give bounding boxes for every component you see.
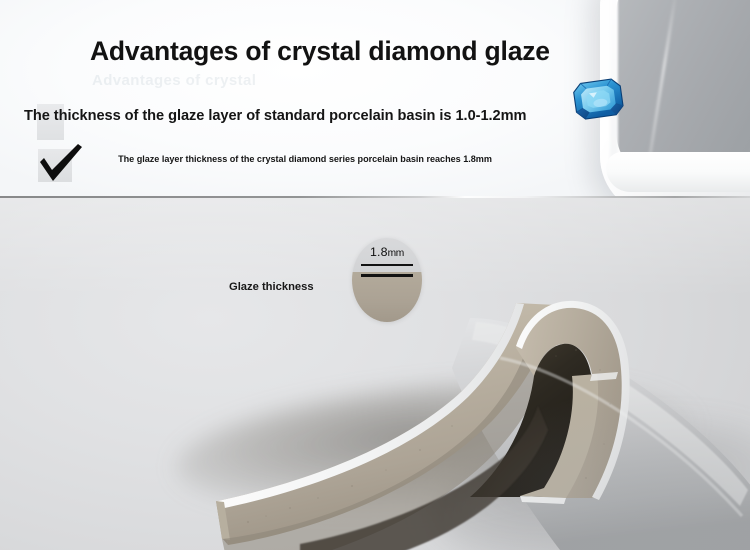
- magnifier-value-label: 1.8mm: [355, 245, 419, 259]
- magnifier-ceramic-body: [352, 272, 422, 322]
- crystal-diamond-thickness-text: The glaze layer thickness of the crystal…: [95, 153, 515, 166]
- header-banner: Advantages of crystal Advantages of crys…: [0, 0, 750, 198]
- magnifier-value: 1.8: [370, 245, 388, 259]
- magnifier-unit: mm: [388, 248, 404, 259]
- page-title: Advantages of crystal diamond glaze: [90, 36, 550, 67]
- infographic-page: Advantages of crystal Advantages of crys…: [0, 0, 750, 550]
- magnifier-rule-bottom: [361, 274, 413, 277]
- checkmark-icon: [36, 142, 86, 186]
- ghost-headline: Advantages of crystal: [92, 72, 256, 89]
- basin-lip: [606, 152, 750, 192]
- standard-thickness-text: The thickness of the glaze layer of stan…: [24, 108, 526, 124]
- glaze-thickness-label: Glaze thickness: [229, 281, 314, 293]
- diamond-gem-icon: [570, 75, 628, 125]
- magnifier-rule-top: [361, 264, 413, 266]
